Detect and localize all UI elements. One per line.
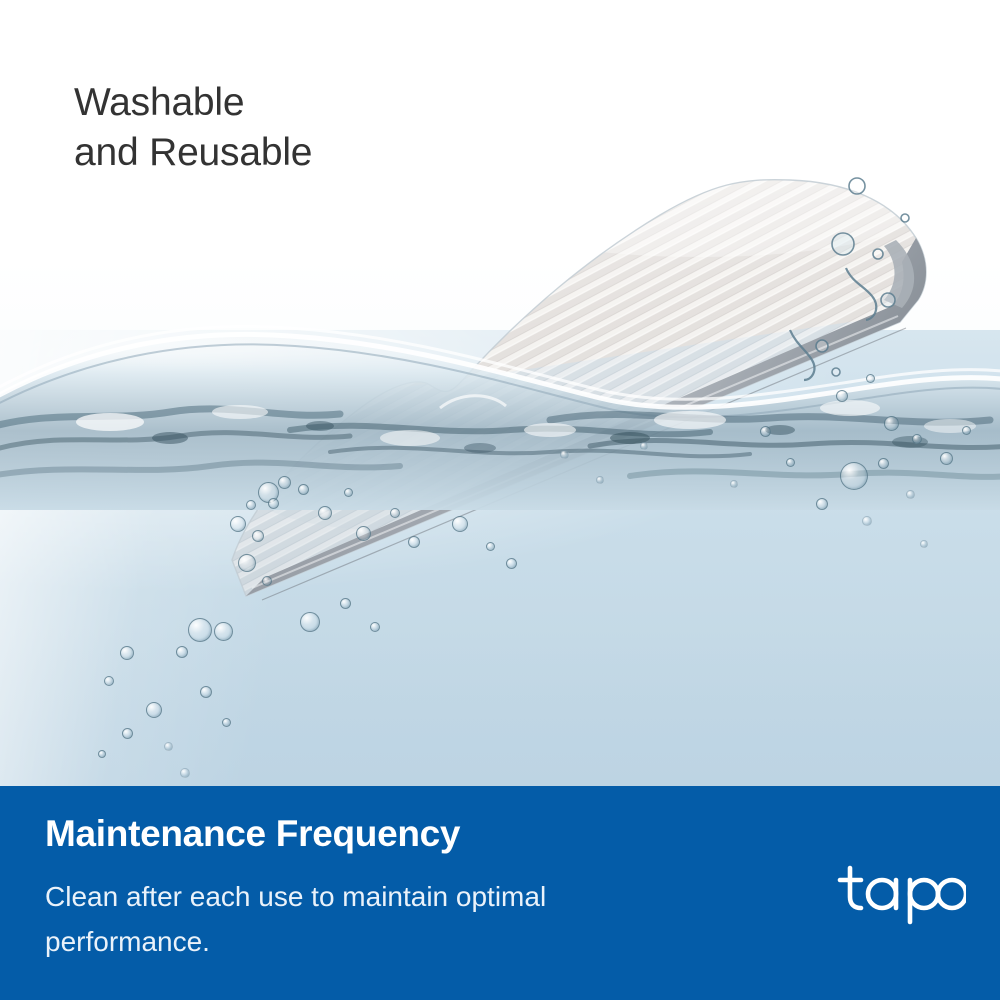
page-title: Washable and Reusable (74, 78, 312, 178)
banner-description: Clean after each use to maintain optimal… (45, 874, 655, 964)
banner-title: Maintenance Frequency (45, 813, 460, 855)
product-feature-image: Washable and Reusable Maintenance Freque… (0, 0, 1000, 1000)
underwater-background (0, 330, 1000, 786)
tapo-logo (836, 862, 966, 928)
